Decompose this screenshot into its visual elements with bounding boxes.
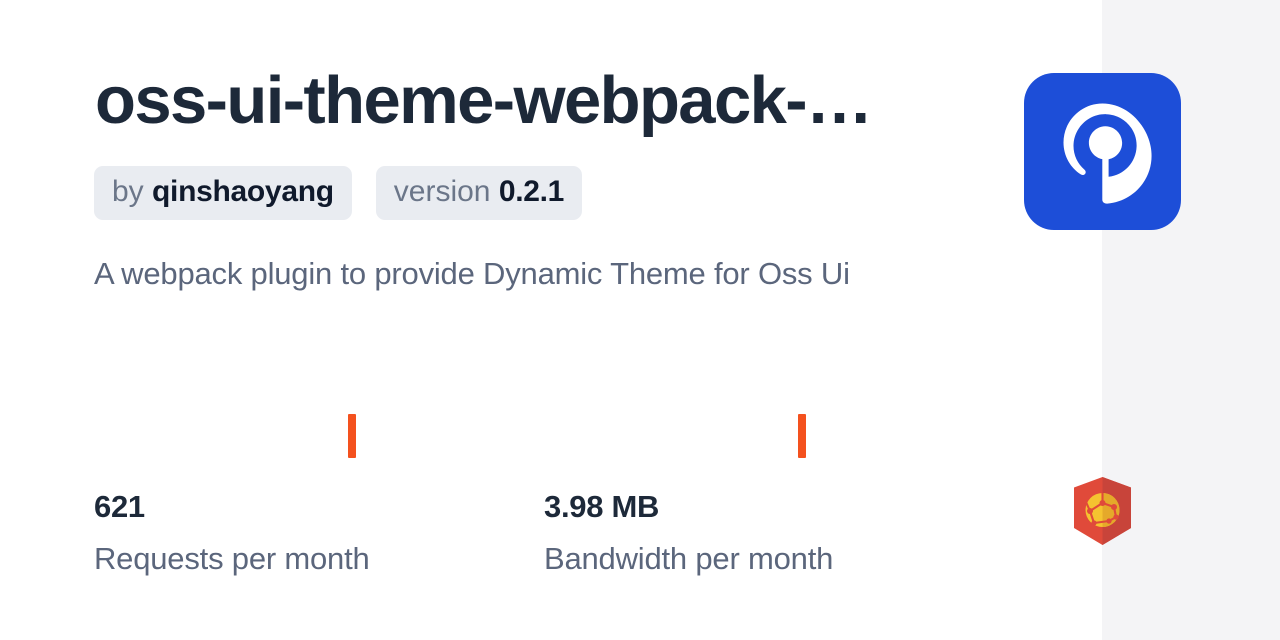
jsdelivr-logo-icon	[1024, 73, 1181, 230]
sparkline-bar	[348, 414, 356, 458]
requests-value: 621	[94, 488, 544, 526]
stats-row: 621 Requests per month 3.98 MB Bandwidth…	[94, 398, 994, 578]
author-prefix-label: by	[112, 175, 144, 208]
webpack-shield-icon	[1072, 476, 1133, 546]
package-description: A webpack plugin to provide Dynamic Them…	[94, 249, 924, 299]
bandwidth-sparkline-chart	[544, 398, 806, 470]
package-meta-badges: by qinshaoyang version 0.2.1	[94, 166, 582, 220]
sparkline-bar	[798, 414, 806, 458]
version-prefix-label: version	[394, 175, 491, 208]
author-name: qinshaoyang	[152, 175, 334, 208]
version-number: 0.2.1	[499, 175, 564, 208]
bandwidth-label: Bandwidth per month	[544, 540, 994, 578]
package-title: oss-ui-theme-webpack-…	[95, 60, 925, 142]
stat-bandwidth: 3.98 MB Bandwidth per month	[544, 398, 994, 578]
requests-label: Requests per month	[94, 540, 544, 578]
package-stats-card: oss-ui-theme-webpack-… by qinshaoyang ve…	[0, 0, 1280, 640]
version-badge: version 0.2.1	[376, 166, 582, 220]
stat-requests: 621 Requests per month	[94, 398, 544, 578]
author-badge: by qinshaoyang	[94, 166, 352, 220]
requests-sparkline-chart	[94, 398, 356, 470]
bandwidth-value: 3.98 MB	[544, 488, 994, 526]
